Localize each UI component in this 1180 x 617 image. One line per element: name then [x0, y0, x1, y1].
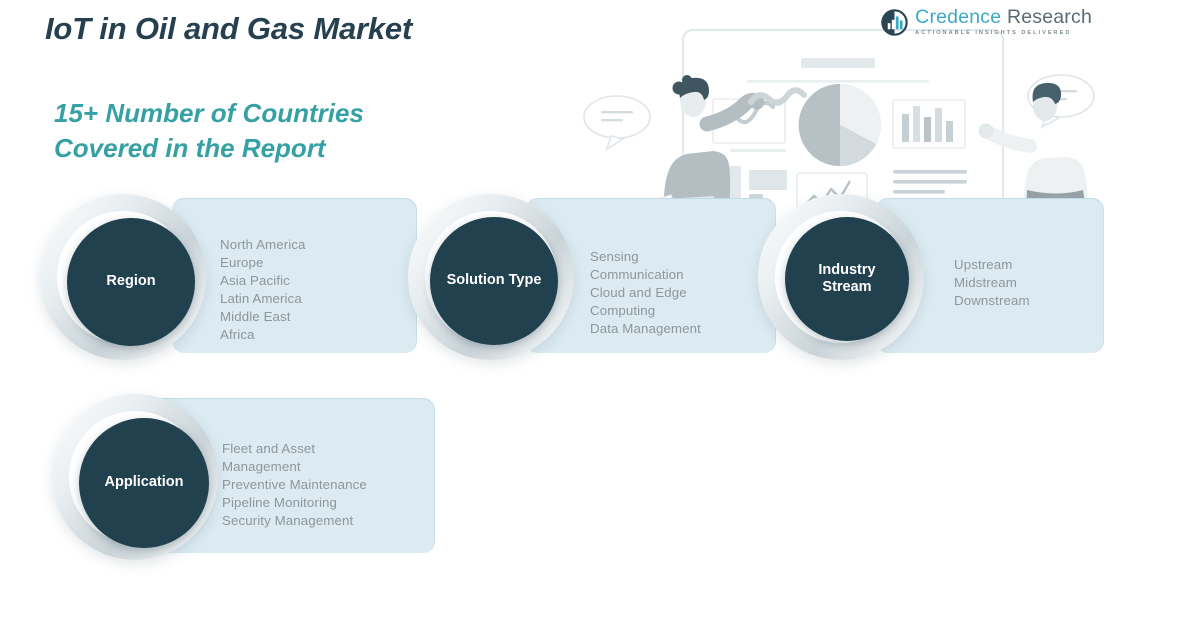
bar-chart-circle-icon: [881, 9, 908, 36]
logo-name-part1: Credence: [915, 6, 1001, 28]
infographic-canvas: Credence Research Actionable Insights De…: [0, 0, 1180, 617]
speech-bubble-left: [584, 96, 650, 149]
page-title: IoT in Oil and Gas Market: [45, 11, 412, 47]
card-region[interactable]: North America Europe Asia Pacific Latin …: [22, 190, 402, 365]
card-solution-type-items: Sensing Communication Cloud and Edge Com…: [590, 248, 701, 338]
card-application-items: Fleet and Asset Management Preventive Ma…: [222, 440, 367, 530]
card-application-bubble-label[interactable]: Application: [79, 418, 209, 548]
card-solution-type[interactable]: Sensing Communication Cloud and Edge Com…: [408, 190, 778, 365]
logo-tagline: Actionable Insights Delivered: [915, 31, 1092, 37]
logo-wordmark: Credence Research: [915, 8, 1092, 28]
card-solution-type-bubble-label[interactable]: Solution Type: [430, 217, 558, 345]
logo-name-part2: Research: [1007, 6, 1092, 28]
speech-bubble-right: [1028, 75, 1094, 127]
card-industry-stream-bubble-label[interactable]: Industry Stream: [785, 217, 909, 341]
page-subtitle: 15+ Number of Countries Covered in the R…: [54, 96, 364, 166]
credence-research-logo: Credence Research Actionable Insights De…: [881, 8, 1092, 36]
card-region-items: North America Europe Asia Pacific Latin …: [220, 236, 306, 344]
card-industry-stream[interactable]: Upstream Midstream Downstream Industry S…: [758, 190, 1103, 365]
card-industry-stream-items: Upstream Midstream Downstream: [954, 256, 1030, 310]
card-region-bubble-label[interactable]: Region: [67, 218, 195, 346]
card-application[interactable]: Fleet and Asset Management Preventive Ma…: [28, 390, 420, 565]
